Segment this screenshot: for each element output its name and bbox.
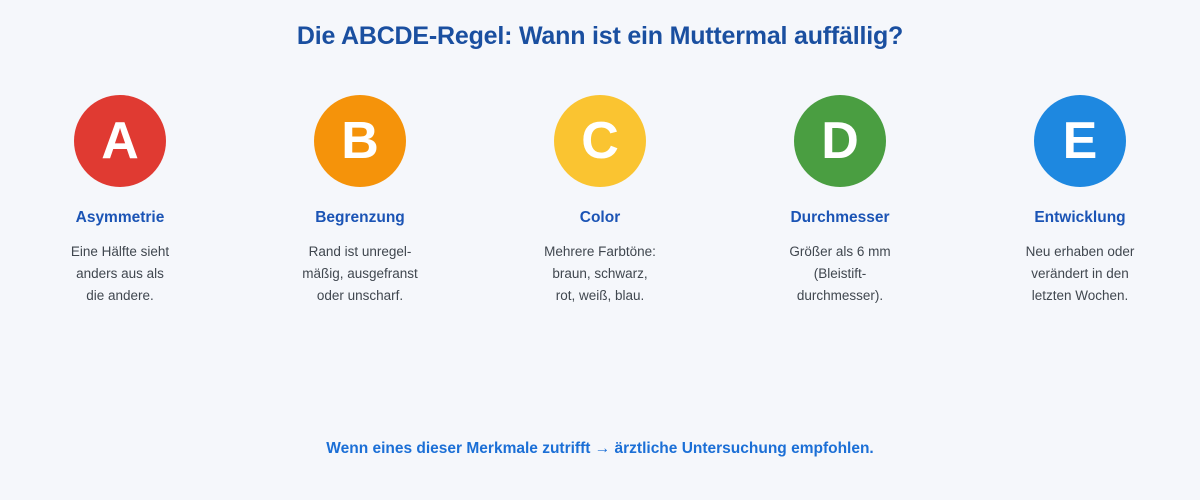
footer-note: Wenn eines dieser Merkmale zutrifft → är… xyxy=(0,440,1200,458)
card-label-a: Asymmetrie xyxy=(76,209,165,227)
abcde-cards-row: A Asymmetrie Eine Hälfte sieht anders au… xyxy=(0,95,1200,307)
card-label-b: Begrenzung xyxy=(315,209,405,227)
abcde-rule-infographic: Die ABCDE-Regel: Wann ist ein Muttermal … xyxy=(0,0,1200,500)
card-description-c: Mehrere Farbtöne: braun, schwarz, rot, w… xyxy=(510,241,690,307)
abcde-card-c: C Color Mehrere Farbtöne: braun, schwarz… xyxy=(480,95,720,307)
card-label-c: Color xyxy=(580,209,620,227)
card-description-e: Neu erhaben oder verändert in den letzte… xyxy=(990,241,1170,307)
card-description-d: Größer als 6 mm (Bleistift- durchmesser)… xyxy=(750,241,930,307)
card-label-e: Entwicklung xyxy=(1034,209,1125,227)
letter-badge-c: C xyxy=(554,95,646,187)
card-description-a: Eine Hälfte sieht anders aus als die and… xyxy=(30,241,210,307)
abcde-card-e: E Entwicklung Neu erhaben oder verändert… xyxy=(960,95,1200,307)
letter-badge-d: D xyxy=(794,95,886,187)
card-label-d: Durchmesser xyxy=(790,209,889,227)
letter-badge-e: E xyxy=(1034,95,1126,187)
abcde-card-d: D Durchmesser Größer als 6 mm (Bleistift… xyxy=(720,95,960,307)
page-title: Die ABCDE-Regel: Wann ist ein Muttermal … xyxy=(0,22,1200,51)
abcde-card-a: A Asymmetrie Eine Hälfte sieht anders au… xyxy=(0,95,240,307)
card-description-b: Rand ist unregel- mäßig, ausgefranst ode… xyxy=(270,241,450,307)
letter-badge-b: B xyxy=(314,95,406,187)
abcde-card-b: B Begrenzung Rand ist unregel- mäßig, au… xyxy=(240,95,480,307)
letter-badge-a: A xyxy=(74,95,166,187)
